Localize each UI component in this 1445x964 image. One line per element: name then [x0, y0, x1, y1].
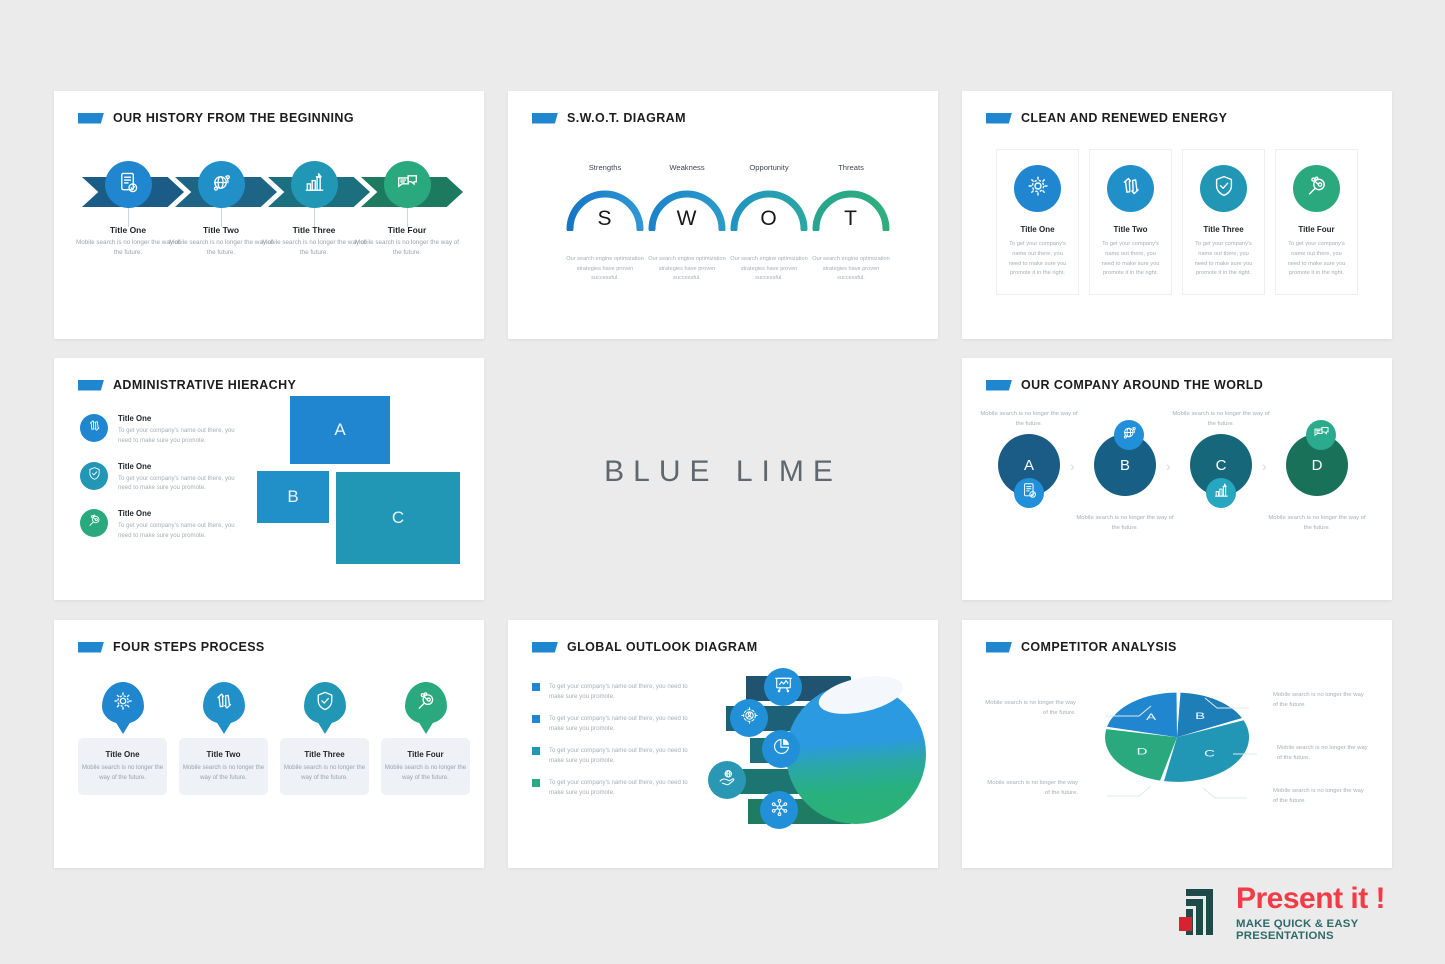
swot-caption: Strengths	[564, 163, 646, 172]
outlook-icon-2[interactable]	[762, 730, 800, 768]
swot-body: Our search engine optimization strategie…	[728, 255, 810, 284]
energy-card-1[interactable]: Title TwoTo get your company's name out …	[1089, 149, 1172, 295]
world-node-badge	[1306, 420, 1336, 450]
world-arrow-0: ›	[1070, 458, 1075, 474]
page-title: FOUR STEPS PROCESS	[113, 640, 265, 654]
pie-note-a: Mobile search is no longer the way of th…	[1273, 691, 1368, 711]
swot-arc: O	[728, 181, 810, 231]
pie-note-c: Mobile search is no longer the way of th…	[983, 779, 1078, 799]
pin-marker	[203, 682, 245, 724]
bullet-body: To get your company's name out there, yo…	[549, 714, 692, 735]
bullet-body: To get your company's name out there, yo…	[549, 778, 692, 799]
pin-title: Title Three	[304, 750, 344, 759]
pie-note-b: Mobile search is no longer the way of th…	[1277, 744, 1372, 764]
slide-clean-energy[interactable]: CLEAN AND RENEWED ENERGY Title OneTo get…	[962, 91, 1392, 339]
slide-competitor-analysis[interactable]: COMPETITOR ANALYSIS ABCDMobile search is…	[962, 620, 1392, 868]
hierarchy-row-icon-circle	[80, 462, 108, 490]
slide-four-steps[interactable]: FOUR STEPS PROCESS Title OneMobile searc…	[54, 620, 484, 868]
row-title: Title One	[118, 509, 240, 518]
svg-text:D: D	[1137, 746, 1148, 756]
page-title: GLOBAL OUTLOOK DIAGRAM	[567, 640, 758, 654]
row-body: To get your company's name out there, yo…	[118, 474, 240, 494]
step-body: Mobile search is no longer the way of th…	[353, 238, 461, 258]
timeline-step-0-label: Title OneMobile search is no longer the …	[74, 225, 182, 258]
title-marker-icon	[78, 642, 104, 653]
slide-global-outlook[interactable]: GLOBAL OUTLOOK DIAGRAM To get your compa…	[508, 620, 938, 868]
pin-body: Mobile search is no longer the way of th…	[280, 763, 369, 783]
bar-chart-growth-icon	[303, 171, 326, 199]
hierarchy-box-b: B	[257, 471, 329, 523]
title-marker-icon	[986, 380, 1012, 391]
globe-network-icon	[210, 171, 233, 199]
logo-tagline: MAKE QUICK & EASY PRESENTATIONS	[1236, 918, 1418, 942]
outlook-icon-1[interactable]	[730, 699, 768, 737]
slide-title-four-steps: FOUR STEPS PROCESS	[78, 640, 265, 654]
pin-marker	[102, 682, 144, 724]
world-node-row: AMobile search is no longer the way of t…	[984, 410, 1374, 550]
row-body: To get your company's name out there, yo…	[118, 521, 240, 541]
magnifier-key-icon	[1305, 174, 1329, 203]
pin-title: Title One	[105, 750, 139, 759]
hierarchy-box-a: A	[290, 396, 390, 464]
page-title: S.W.O.T. DIAGRAM	[567, 111, 686, 125]
pin-row: Title OneMobile search is no longer the …	[78, 682, 470, 795]
swot-diagram: StrengthsSOur search engine optimization…	[564, 163, 894, 283]
pie-chart-icon	[772, 737, 791, 761]
timeline: Title OneMobile search is no longer the …	[82, 161, 456, 221]
card-title: Title Three	[1203, 225, 1243, 234]
world-node-badge	[1114, 420, 1144, 450]
slide-title-world: OUR COMPANY AROUND THE WORLD	[986, 378, 1263, 392]
pin-card: Title ThreeMobile search is no longer th…	[280, 738, 369, 795]
timeline-step-2-circle[interactable]	[291, 161, 338, 208]
outlook-icon-4[interactable]	[760, 791, 798, 829]
timeline-step-3-circle[interactable]	[384, 161, 431, 208]
page-title: OUR HISTORY FROM THE BEGINNING	[113, 111, 354, 125]
bullet-square-icon	[532, 747, 540, 755]
arrows-updown-icon	[213, 690, 235, 717]
bullet-body: To get your company's name out there, yo…	[549, 746, 692, 767]
world-node-label: B	[1120, 457, 1130, 474]
timeline-step-3-label: Title FourMobile search is no longer the…	[353, 225, 461, 258]
slide-title-hierarchy: ADMINISTRATIVE HIERACHY	[78, 378, 296, 392]
hierarchy-box-c-label: C	[336, 508, 460, 528]
world-node-label: D	[1312, 457, 1323, 474]
swot-caption: Opportunity	[728, 163, 810, 172]
pin-step-1[interactable]: Title TwoMobile search is no longer the …	[179, 682, 268, 795]
pin-title: Title Two	[207, 750, 241, 759]
logo-mark-icon	[1178, 887, 1230, 937]
swot-letter: W	[646, 207, 728, 231]
step-body: Mobile search is no longer the way of th…	[260, 238, 368, 258]
pin-marker	[304, 682, 346, 724]
outlook-bullet-1[interactable]: To get your company's name out there, yo…	[532, 714, 692, 735]
swot-body: Our search engine optimization strategie…	[564, 255, 646, 284]
bar-chart-growth-icon	[1213, 482, 1230, 504]
slide-title-energy: CLEAN AND RENEWED ENERGY	[986, 111, 1227, 125]
svg-text:C: C	[1204, 748, 1215, 758]
hand-globe-icon	[718, 768, 737, 792]
logo-name: Present it !	[1236, 882, 1385, 916]
outlook-bullet-list: To get your company's name out there, yo…	[532, 682, 692, 810]
present-it-logo: Present it ! MAKE QUICK & EASY PRESENTAT…	[1178, 884, 1418, 942]
outlook-bullet-2[interactable]: To get your company's name out there, yo…	[532, 746, 692, 767]
arrows-updown-icon	[87, 418, 102, 438]
world-arrow-2: ›	[1262, 458, 1267, 474]
presentation-chart-icon	[774, 675, 793, 699]
slide-title-competitor: COMPETITOR ANALYSIS	[986, 640, 1177, 654]
shield-check-icon	[1212, 174, 1236, 203]
world-node-1[interactable]: BMobile search is no longer the way of t…	[1088, 410, 1176, 550]
pin-title: Title Four	[407, 750, 443, 759]
world-node-badge	[1014, 478, 1044, 508]
energy-card-icon-circle	[1014, 165, 1061, 212]
hierarchy-list: Title OneTo get your company's name out …	[80, 414, 260, 557]
pie-note-d: Mobile search is no longer the way of th…	[981, 699, 1076, 719]
energy-card-icon-circle	[1200, 165, 1247, 212]
chat-bubbles-icon	[1313, 424, 1330, 446]
svg-text:A: A	[1146, 712, 1157, 722]
bullet-square-icon	[532, 683, 540, 691]
card-body: To get your company's name out there, yo…	[1099, 240, 1163, 279]
page-title: ADMINISTRATIVE HIERACHY	[113, 378, 296, 392]
world-node-caption: Mobile search is no longer the way of th…	[1075, 514, 1175, 533]
document-check-icon	[117, 171, 140, 199]
step-title: Title Four	[353, 225, 461, 235]
world-node-0[interactable]: AMobile search is no longer the way of t…	[992, 410, 1080, 550]
swot-arc: W	[646, 181, 728, 231]
swot-letter: S	[564, 207, 646, 231]
bullet-square-icon	[532, 715, 540, 723]
pie-svg: ABCD	[1077, 674, 1277, 824]
card-body: To get your company's name out there, yo…	[1192, 240, 1256, 279]
chat-bubbles-icon	[396, 171, 419, 199]
step-body: Mobile search is no longer the way of th…	[167, 238, 275, 258]
pin-step-3[interactable]: Title FourMobile search is no longer the…	[381, 682, 470, 795]
world-node-badge	[1206, 478, 1236, 508]
svg-text:B: B	[1195, 711, 1205, 721]
swot-arc: T	[810, 181, 892, 231]
hierarchy-box-a-label: A	[290, 420, 390, 440]
energy-card-3[interactable]: Title FourTo get your company's name out…	[1275, 149, 1358, 295]
step-body: Mobile search is no longer the way of th…	[74, 238, 182, 258]
row-body: To get your company's name out there, yo…	[118, 426, 240, 446]
slide-administrative-hierarchy[interactable]: ADMINISTRATIVE HIERACHY Title OneTo get …	[54, 358, 484, 600]
magnifier-key-icon	[87, 513, 102, 533]
outlook-globe-graphic	[708, 666, 928, 836]
pin-card: Title TwoMobile search is no longer the …	[179, 738, 268, 795]
hierarchy-row-1[interactable]: Title OneTo get your company's name out …	[80, 462, 260, 494]
slide-swot[interactable]: S.W.O.T. DIAGRAM StrengthsSOur search en…	[508, 91, 938, 339]
hierarchy-row-0[interactable]: Title OneTo get your company's name out …	[80, 414, 260, 446]
pin-body: Mobile search is no longer the way of th…	[179, 763, 268, 783]
arrows-updown-icon	[1119, 174, 1143, 203]
energy-card-0[interactable]: Title OneTo get your company's name out …	[996, 149, 1079, 295]
world-node-2[interactable]: CMobile search is no longer the way of t…	[1184, 410, 1272, 550]
pin-marker	[405, 682, 447, 724]
globe-network-icon	[1121, 424, 1138, 446]
pin-card: Title OneMobile search is no longer the …	[78, 738, 167, 795]
pin-body: Mobile search is no longer the way of th…	[78, 763, 167, 783]
timeline-step-2-label: Title ThreeMobile search is no longer th…	[260, 225, 368, 258]
row-title: Title One	[118, 462, 240, 471]
outlook-bullet-0[interactable]: To get your company's name out there, yo…	[532, 682, 692, 703]
pie-note-c2: Mobile search is no longer the way of th…	[1273, 787, 1368, 807]
hierarchy-box-b-label: B	[257, 487, 329, 507]
page-title: CLEAN AND RENEWED ENERGY	[1021, 111, 1227, 125]
outlook-icon-3[interactable]	[708, 761, 746, 799]
outlook-bullet-3[interactable]: To get your company's name out there, yo…	[532, 778, 692, 799]
energy-card-2[interactable]: Title ThreeTo get your company's name ou…	[1182, 149, 1265, 295]
swot-caption: Weakness	[646, 163, 728, 172]
slide-title-history: OUR HISTORY FROM THE BEGINNING	[78, 111, 354, 125]
swot-item-3[interactable]: ThreatsTOur search engine optimization s…	[810, 163, 892, 284]
document-check-icon	[1021, 482, 1038, 504]
shield-check-icon	[314, 690, 336, 717]
swot-letter: T	[810, 207, 892, 231]
outlook-icon-0[interactable]	[764, 668, 802, 706]
brand-wordmark: BLUE LIME	[554, 455, 892, 489]
timeline-step-1-circle[interactable]	[198, 161, 245, 208]
step-title: Title Two	[167, 225, 275, 235]
gear-icon	[112, 690, 134, 717]
title-marker-icon	[986, 642, 1012, 653]
bullet-square-icon	[532, 779, 540, 787]
page-title: COMPETITOR ANALYSIS	[1021, 640, 1177, 654]
pin-card: Title FourMobile search is no longer the…	[381, 738, 470, 795]
pin-step-2[interactable]: Title ThreeMobile search is no longer th…	[280, 682, 369, 795]
energy-card-icon-circle	[1107, 165, 1154, 212]
magnifier-key-icon	[415, 690, 437, 717]
slide-our-history[interactable]: OUR HISTORY FROM THE BEGINNING Title One…	[54, 91, 484, 339]
card-body: To get your company's name out there, yo…	[1006, 240, 1070, 279]
swot-body: Our search engine optimization strategie…	[646, 255, 728, 284]
slide-company-around-world[interactable]: OUR COMPANY AROUND THE WORLD AMobile sea…	[962, 358, 1392, 600]
world-arrow-1: ›	[1166, 458, 1171, 474]
card-title: Title Four	[1298, 225, 1334, 234]
timeline-step-1-label: Title TwoMobile search is no longer the …	[167, 225, 275, 258]
target-person-icon	[740, 706, 759, 730]
pin-step-0[interactable]: Title OneMobile search is no longer the …	[78, 682, 167, 795]
world-node-label: C	[1216, 457, 1227, 474]
bullet-body: To get your company's name out there, yo…	[549, 682, 692, 703]
world-node-label: A	[1024, 457, 1034, 474]
slide-title-swot: S.W.O.T. DIAGRAM	[532, 111, 686, 125]
world-node-3[interactable]: DMobile search is no longer the way of t…	[1280, 410, 1368, 550]
hierarchy-box-c: C	[336, 472, 460, 564]
swot-arc: S	[564, 181, 646, 231]
card-title: Title Two	[1114, 225, 1148, 234]
swot-item-1[interactable]: WeaknessWOur search engine optimization …	[646, 163, 728, 284]
gear-icon	[1026, 174, 1050, 203]
energy-card-row: Title OneTo get your company's name out …	[996, 149, 1358, 295]
title-marker-icon	[532, 113, 558, 124]
pin-body: Mobile search is no longer the way of th…	[381, 763, 470, 783]
card-body: To get your company's name out there, yo…	[1285, 240, 1349, 279]
timeline-step-0-circle[interactable]	[105, 161, 152, 208]
world-node-caption: Mobile search is no longer the way of th…	[979, 410, 1079, 429]
swot-item-0[interactable]: StrengthsSOur search engine optimization…	[564, 163, 646, 284]
energy-card-icon-circle	[1293, 165, 1340, 212]
slide-grid: OUR HISTORY FROM THE BEGINNING Title One…	[0, 0, 1445, 964]
title-marker-icon	[78, 380, 104, 391]
swot-item-2[interactable]: OpportunityOOur search engine optimizati…	[728, 163, 810, 284]
competitor-pie-chart: ABCDMobile search is no longer the way o…	[1077, 674, 1277, 824]
title-marker-icon	[986, 113, 1012, 124]
world-node-caption: Mobile search is no longer the way of th…	[1267, 514, 1367, 533]
card-title: Title One	[1020, 225, 1054, 234]
shield-check-icon	[87, 466, 102, 486]
page-title: OUR COMPANY AROUND THE WORLD	[1021, 378, 1263, 392]
title-marker-icon	[532, 642, 558, 653]
hierarchy-row-icon-circle	[80, 414, 108, 442]
title-marker-icon	[78, 113, 104, 124]
swot-letter: O	[728, 207, 810, 231]
row-title: Title One	[118, 414, 240, 423]
swot-body: Our search engine optimization strategie…	[810, 255, 892, 284]
hierarchy-row-icon-circle	[80, 509, 108, 537]
step-title: Title Three	[260, 225, 368, 235]
step-title: Title One	[74, 225, 182, 235]
swot-caption: Threats	[810, 163, 892, 172]
slide-title-outlook: GLOBAL OUTLOOK DIAGRAM	[532, 640, 758, 654]
world-node-caption: Mobile search is no longer the way of th…	[1171, 410, 1271, 429]
network-nodes-icon	[770, 798, 789, 822]
hierarchy-row-2[interactable]: Title OneTo get your company's name out …	[80, 509, 260, 541]
